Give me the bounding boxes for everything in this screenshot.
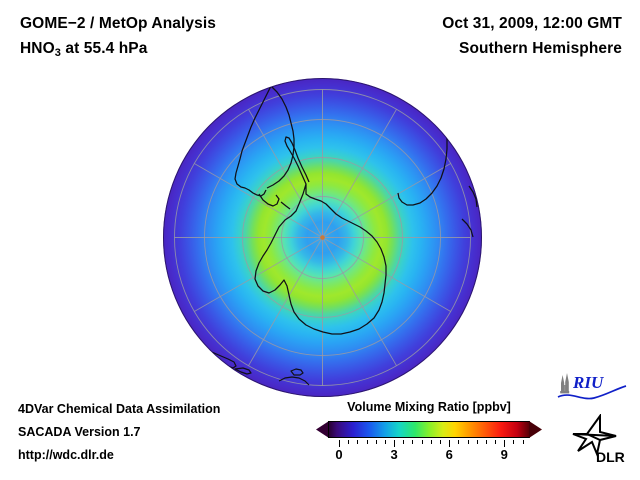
coastline-south-america — [235, 86, 294, 209]
header-right: Oct 31, 2009, 12:00 GMT Southern Hemisph… — [322, 11, 622, 61]
colorbar-major-tick — [504, 440, 505, 447]
colorbar-minor-tick — [422, 440, 423, 444]
timestamp: Oct 31, 2009, 12:00 GMT — [322, 11, 622, 36]
colorbar-minor-tick — [431, 440, 432, 444]
colorbar-tick-label: 3 — [390, 447, 397, 462]
colorbar-tick-label: 9 — [501, 447, 508, 462]
dlr-wordmark: DLR — [596, 449, 625, 465]
colorbar-minor-tick — [348, 440, 349, 444]
dlr-logo: DLR — [570, 414, 634, 466]
figure-canvas: GOME−2 / MetOp Analysis HNO3 at 55.4 hPa… — [0, 0, 640, 480]
riu-wordmark: RIU — [572, 373, 604, 392]
credit-version: SACADA Version 1.7 — [18, 421, 220, 444]
region-label: Southern Hemisphere — [322, 36, 622, 61]
colorbar-minor-tick — [385, 440, 386, 444]
subtitle-level: at 55.4 hPa — [61, 40, 148, 57]
subtitle-species: HNO — [20, 40, 55, 57]
colorbar-minor-tick — [376, 440, 377, 444]
riu-towers — [560, 373, 569, 393]
colorbar-major-tick — [394, 440, 395, 447]
page-title: GOME−2 / MetOp Analysis — [20, 11, 350, 36]
colorbar-minor-tick — [403, 440, 404, 444]
colorbar-minor-tick — [412, 440, 413, 444]
colorbar-minor-tick — [468, 440, 469, 444]
colorbar-minor-tick — [513, 440, 514, 444]
colorbar-minor-tick — [477, 440, 478, 444]
colorbar-minor-tick — [357, 440, 358, 444]
colorbar-bar-row — [316, 420, 542, 440]
colorbar-major-tick — [339, 440, 340, 447]
colorbar-minor-tick — [440, 440, 441, 444]
globe-map — [163, 78, 482, 397]
colorbar-tick-label: 6 — [446, 447, 453, 462]
colorbar-minor-tick — [495, 440, 496, 444]
subtitle-subscript: 3 — [55, 47, 61, 59]
colorbar-tick-label: 0 — [335, 447, 342, 462]
page-subtitle: HNO3 at 55.4 hPa — [20, 36, 350, 63]
colorbar-extend-max-arrow — [529, 421, 542, 438]
colorbar-minor-tick — [523, 440, 524, 444]
coastline-africa — [398, 119, 477, 237]
colorbar-gradient — [328, 421, 530, 438]
colorbar-minor-tick — [367, 440, 368, 444]
colorbar-title: Volume Mixing Ratio [ppbv] — [316, 399, 542, 416]
colorbar-major-tick — [449, 440, 450, 447]
header-left: GOME−2 / MetOp Analysis HNO3 at 55.4 hPa — [20, 11, 350, 63]
colorbar-ticks — [328, 440, 530, 447]
colorbar-minor-tick — [458, 440, 459, 444]
pole-marker — [320, 235, 325, 240]
credit-url[interactable]: http://wdc.dlr.de — [18, 444, 220, 467]
map-overlay — [163, 78, 482, 397]
credit-method: 4DVar Chemical Data Assimilation — [18, 398, 220, 421]
coastline-new-zealand — [207, 351, 251, 374]
colorbar: Volume Mixing Ratio [ppbv] 0369 — [316, 399, 542, 465]
riu-logo: RIU — [556, 371, 628, 403]
colorbar-minor-tick — [486, 440, 487, 444]
colorbar-tick-labels: 0369 — [328, 447, 530, 465]
footer-credits: 4DVar Chemical Data Assimilation SACADA … — [18, 398, 220, 467]
